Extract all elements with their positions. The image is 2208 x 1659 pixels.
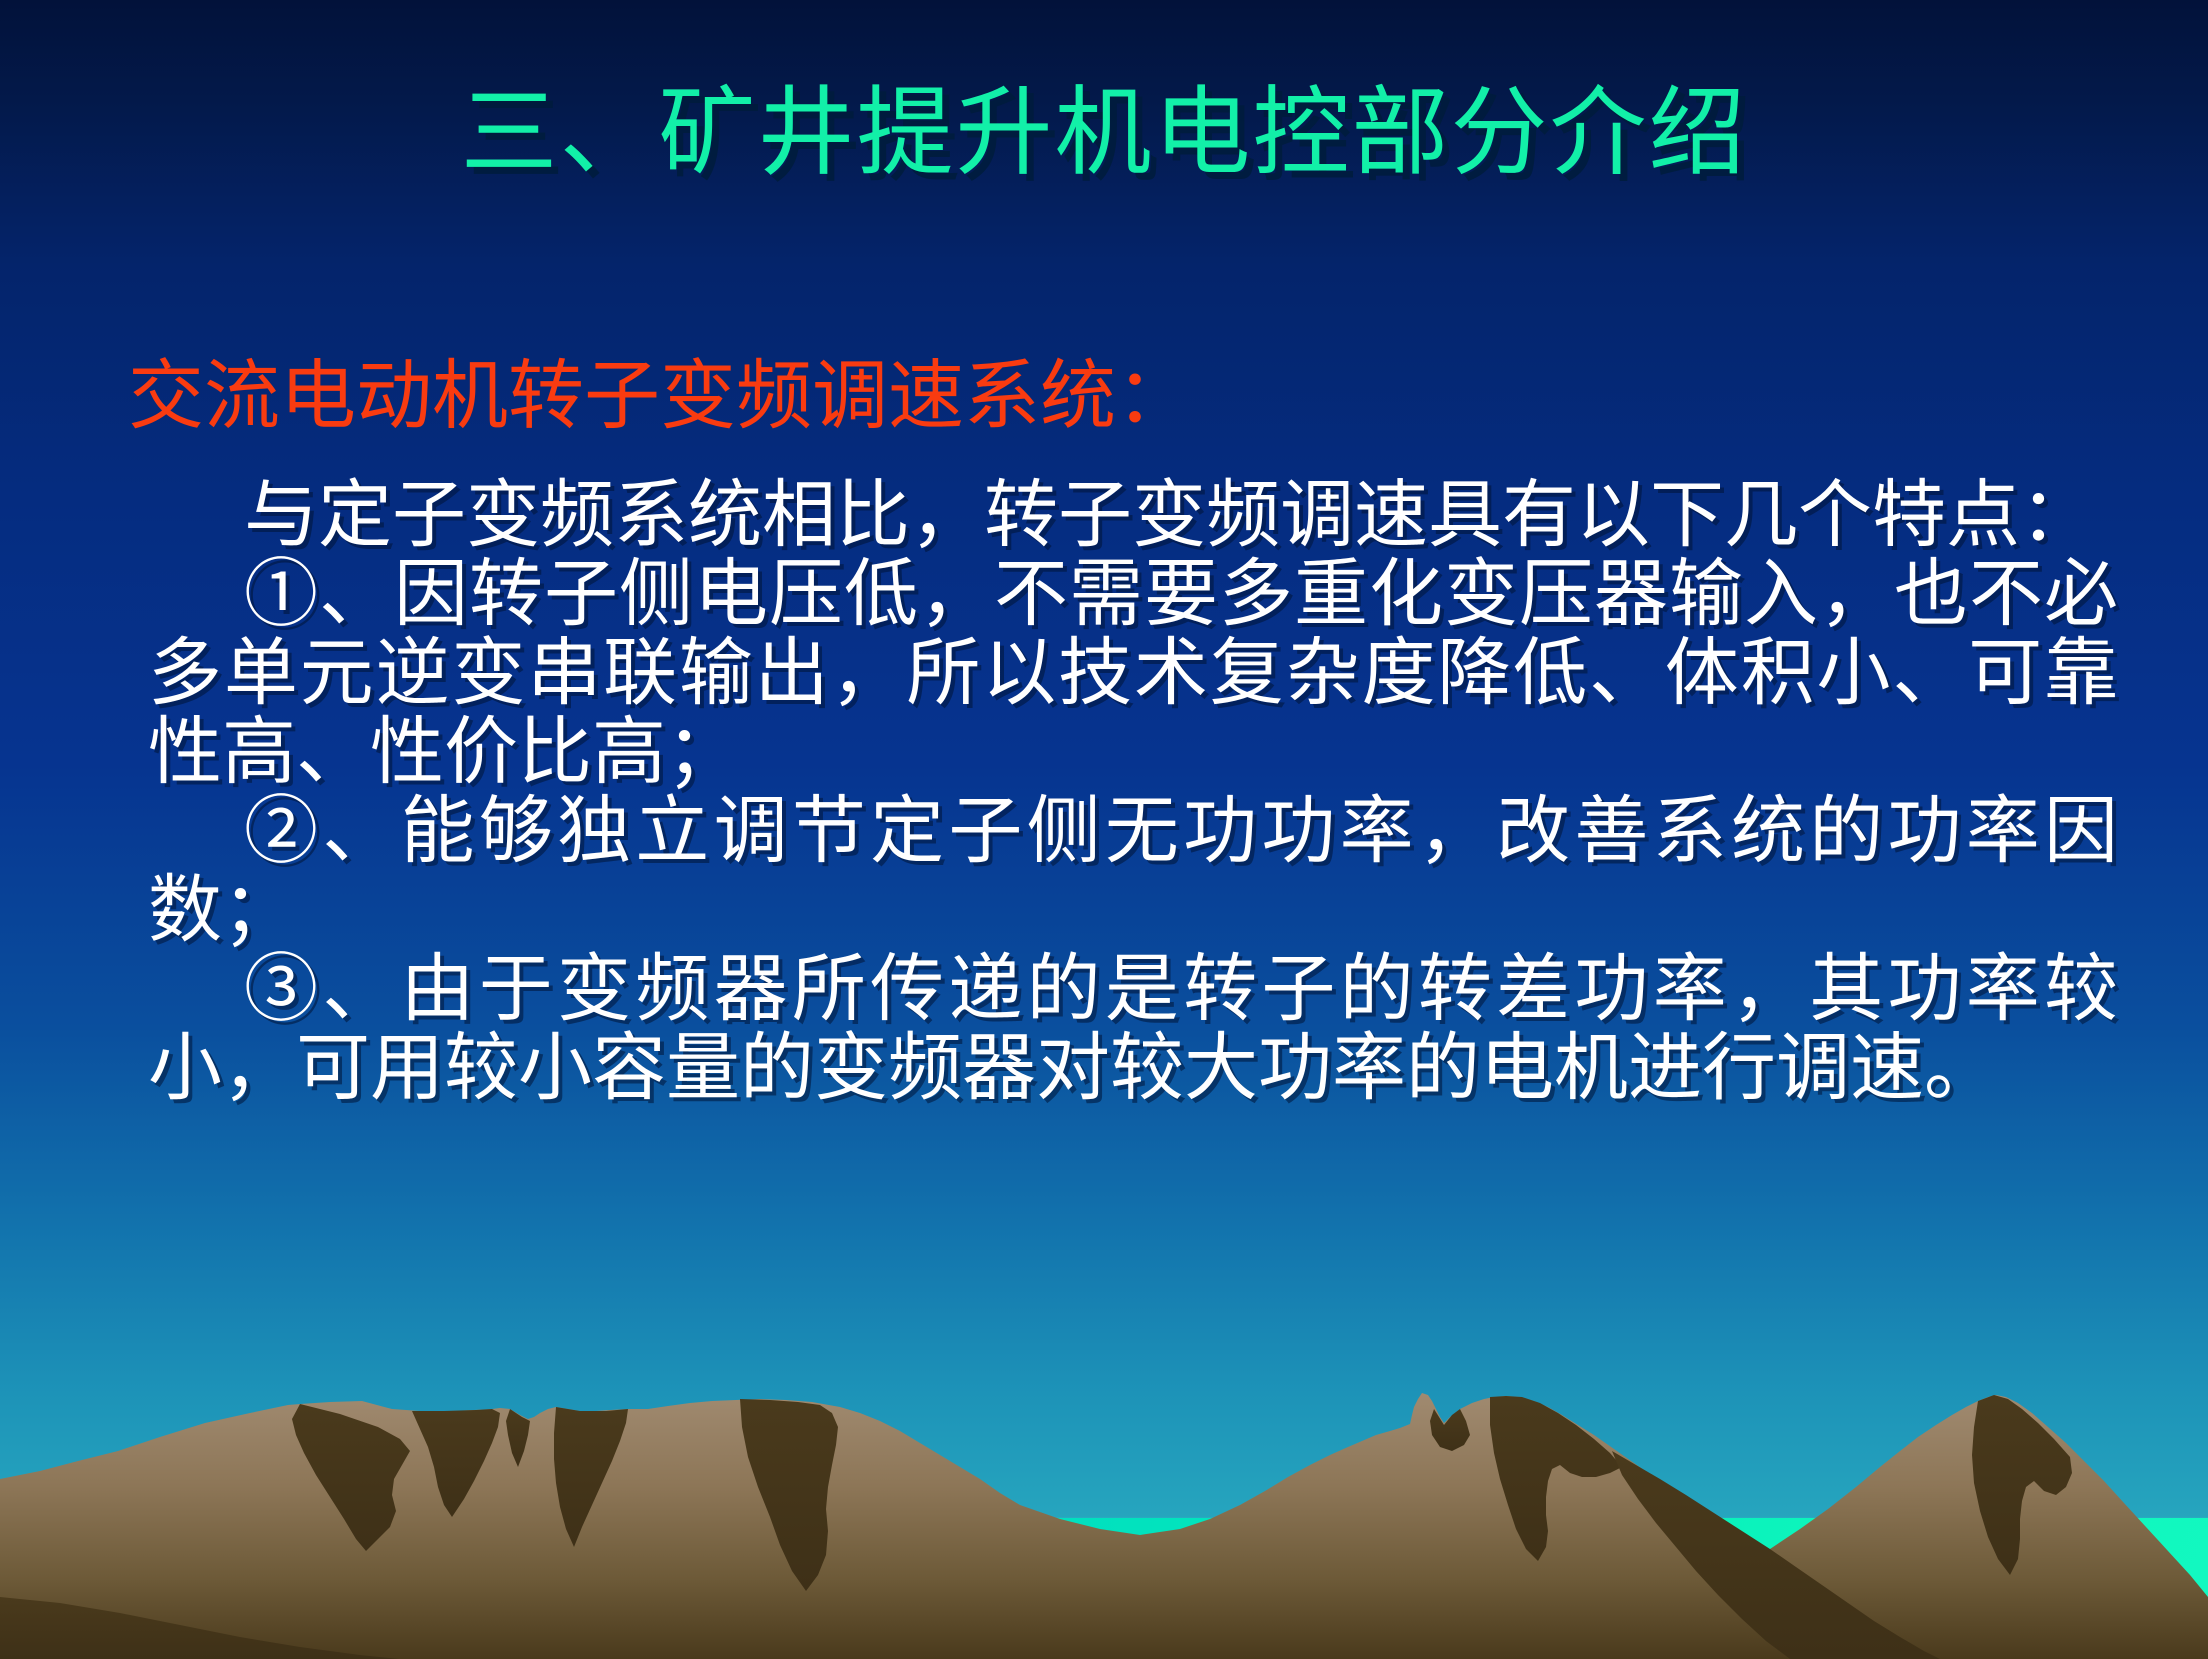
body-paragraph-point-2: ②、能够独立调节定子侧无功功率，改善系统的功率因数； (148, 792, 2118, 950)
body-paragraph-point-1: ①、因转子侧电压低，不需要多重化变压器输入，也不必多单元逆变串联输出，所以技术复… (148, 555, 2118, 792)
mountain-range-silhouette (0, 1369, 2208, 1659)
presentation-slide: 三、矿井提升机电控部分介绍 交流电动机转子变频调速系统： 与定子变频系统相比，转… (0, 0, 2208, 1659)
slide-title: 三、矿井提升机电控部分介绍 (0, 84, 2208, 181)
slide-body: 与定子变频系统相比，转子变频调速具有以下几个特点： ①、因转子侧电压低，不需要多… (188, 476, 2118, 1108)
body-paragraph-intro: 与定子变频系统相比，转子变频调速具有以下几个特点： (148, 476, 2118, 555)
slide-subtitle: 交流电动机转子变频调速系统： (128, 358, 1192, 434)
body-paragraph-point-3: ③、由于变频器所传递的是转子的转差功率，其功率较小，可用较小容量的变频器对较大功… (148, 950, 2118, 1108)
